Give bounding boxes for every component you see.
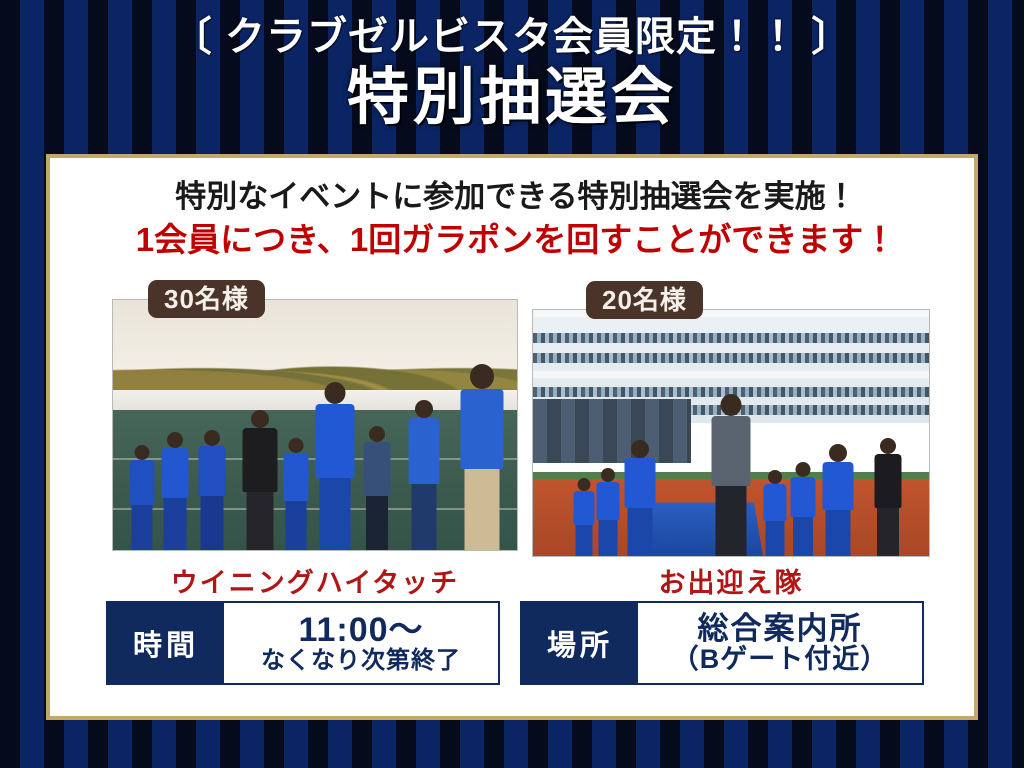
photo-figure-kid	[763, 470, 787, 556]
photo-caption-high-touch: ウイニングハイタッチ	[112, 561, 518, 600]
lead-text-block: 特別なイベントに参加できる特別抽選会を実施！ 1会員につき、1回ガラポンを回すこ…	[50, 176, 982, 262]
lead-line-2: 1会員につき、1回ガラポンを回すことができます！	[50, 218, 982, 262]
photo-figure	[198, 430, 226, 550]
photo-figure	[129, 445, 155, 550]
photo-card-welcome-team: 20名様	[532, 309, 930, 557]
photo-figure	[161, 432, 189, 550]
info-place-main: 総合案内所	[698, 613, 863, 646]
poster-header: 〔 クラブゼルビスタ会員限定！！ 〕 特別抽選会	[0, 0, 1024, 150]
photo-image-welcome	[532, 309, 930, 557]
photo-figure-kid	[624, 440, 656, 556]
photo-figure	[363, 426, 391, 550]
photo-caption-welcome: お出迎え隊	[532, 561, 930, 600]
photo-figure-kid	[573, 478, 595, 556]
photo-figure-coach	[242, 410, 278, 550]
capacity-badge-30: 30名様	[148, 280, 265, 318]
photo-figure-fan-foreground	[460, 364, 504, 550]
photo-card-winning-high-touch: 30名様	[112, 299, 518, 551]
page-title: 特別抽選会	[0, 62, 1024, 134]
lead-line-1: 特別なイベントに参加できる特別抽選会を実施！	[50, 176, 982, 218]
content-panel: 特別なイベントに参加できる特別抽選会を実施！ 1会員につき、1回ガラポンを回すこ…	[46, 154, 978, 720]
info-label-time: 時間	[108, 603, 224, 683]
info-box-time: 時間 11:00〜 なくなり次第終了	[106, 601, 500, 685]
info-label-place: 場所	[522, 603, 638, 683]
photo-figure-kid	[822, 444, 854, 556]
info-time-main: 11:00〜	[298, 613, 423, 649]
capacity-badge-20: 20名様	[586, 281, 703, 319]
photo-figure-player-main	[315, 382, 355, 550]
photo-figure-staff	[874, 438, 902, 556]
info-place-sub: （Bゲート付近）	[672, 645, 889, 673]
photo-figure-kid	[596, 468, 620, 556]
photo-figure-player-main	[711, 394, 751, 556]
photo-figure	[283, 438, 309, 550]
info-value-place: 総合案内所 （Bゲート付近）	[638, 603, 922, 683]
info-box-place: 場所 総合案内所 （Bゲート付近）	[520, 601, 924, 685]
photo-image-high-touch	[112, 299, 518, 551]
photo-figure-fan	[408, 400, 440, 550]
photo-tunnel	[533, 399, 691, 463]
header-subtitle: 〔 クラブゼルビスタ会員限定！！ 〕	[0, 14, 1024, 60]
info-time-sub: なくなり次第終了	[261, 648, 461, 673]
poster-root: 〔 クラブゼルビスタ会員限定！！ 〕 特別抽選会 特別なイベントに参加できる特別…	[0, 0, 1024, 768]
photo-figure-kid	[790, 462, 816, 556]
info-value-time: 11:00〜 なくなり次第終了	[224, 603, 498, 683]
